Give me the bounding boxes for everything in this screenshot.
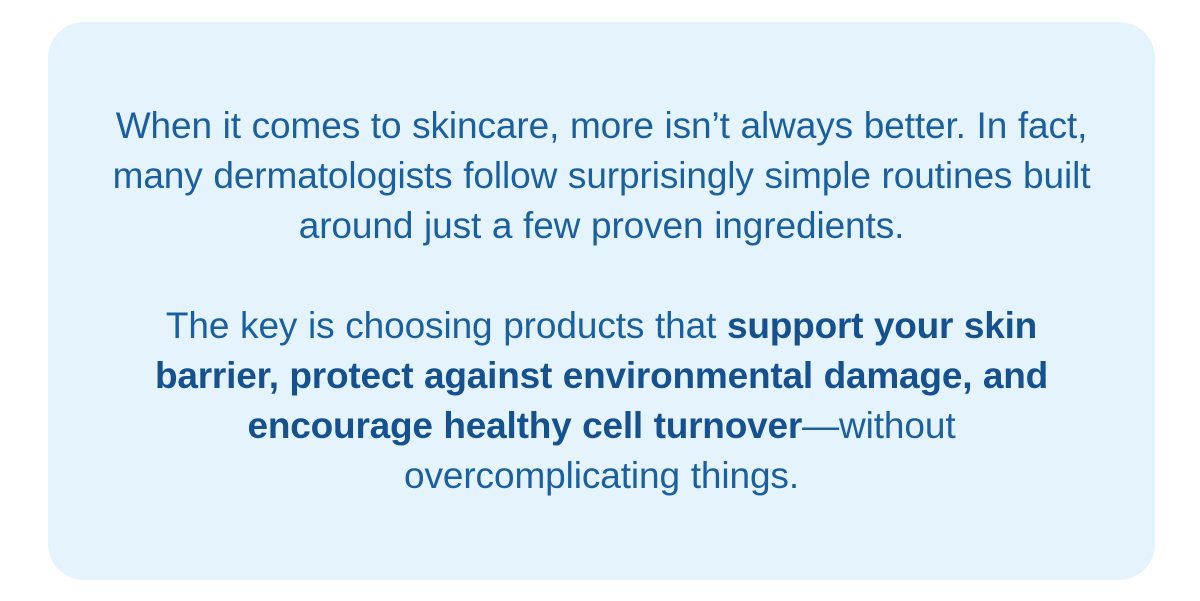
callout-card: When it comes to skincare, more isn’t al… [48,22,1155,580]
intro-paragraph: When it comes to skincare, more isn’t al… [112,101,1092,251]
paragraph-spacer [112,251,1092,301]
callout-card-content: When it comes to skincare, more isn’t al… [112,101,1092,501]
page-root: When it comes to skincare, more isn’t al… [0,0,1200,601]
key-message-lead-text: The key is choosing products that [166,305,727,346]
key-message-paragraph: The key is choosing products that suppor… [112,301,1092,501]
